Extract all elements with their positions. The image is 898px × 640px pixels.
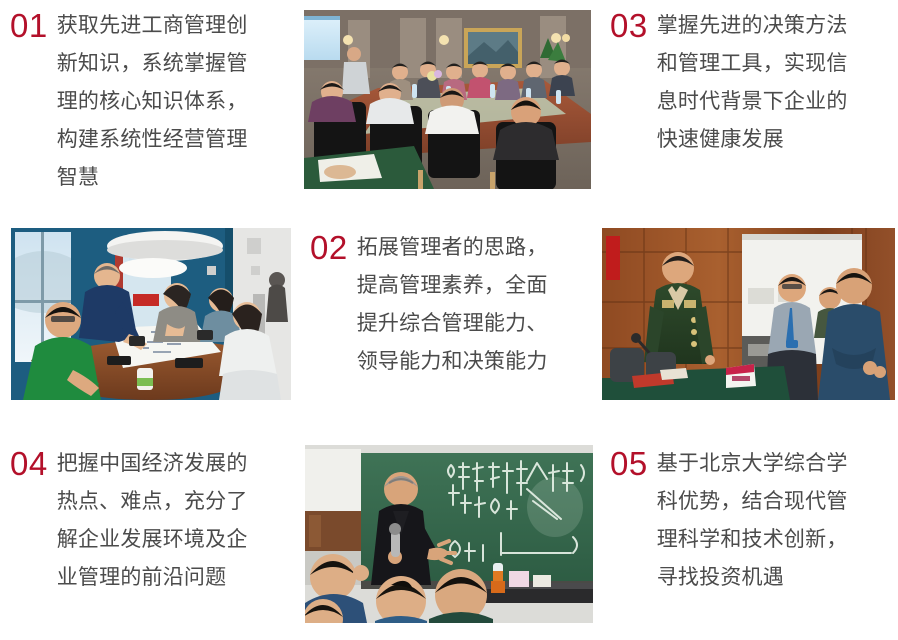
photo-officer-talk — [602, 228, 895, 400]
feature-text-02: 拓展管理者的思路， 提高管理素养，全面 提升综合管理能力、 领导能力和决策能力 — [357, 228, 596, 380]
feature-item-04: 04 把握中国经济发展的 热点、难点，充分了 解企业发展环境及企 业管理的前沿问… — [10, 444, 296, 596]
feature-item-03: 03 掌握先进的决策方法 和管理工具，实现信 息时代背景下企业的 快速健康发展 — [610, 6, 896, 158]
feature-item-05: 05 基于北京大学综合学 科优势，结合现代管 理科学和技术创新， 寻找投资机遇 — [610, 444, 896, 596]
group-table-illustration — [11, 228, 291, 400]
feature-text-04: 把握中国经济发展的 热点、难点，充分了 解企业发展环境及企 业管理的前沿问题 — [57, 444, 296, 596]
photo-group-table — [11, 228, 291, 400]
features-grid-page: 01 获取先进工商管理创 新知识，系统掌握管 理的核心知识体系， 构建系统性经营… — [0, 0, 898, 640]
photo-lecture-board — [305, 445, 593, 623]
feature-item-02: 02 拓展管理者的思路， 提高管理素养，全面 提升综合管理能力、 领导能力和决策… — [310, 228, 596, 380]
feature-number-01: 01 — [10, 6, 48, 46]
officer-talk-illustration — [602, 228, 895, 400]
feature-text-05: 基于北京大学综合学 科优势，结合现代管 理科学和技术创新， 寻找投资机遇 — [657, 444, 896, 596]
feature-number-02: 02 — [310, 228, 348, 268]
lecture-board-illustration — [305, 445, 593, 623]
feature-item-01: 01 获取先进工商管理创 新知识，系统掌握管 理的核心知识体系， 构建系统性经营… — [10, 6, 296, 196]
feature-text-01: 获取先进工商管理创 新知识，系统掌握管 理的核心知识体系， 构建系统性经营管理 … — [57, 6, 296, 196]
feature-text-03: 掌握先进的决策方法 和管理工具，实现信 息时代背景下企业的 快速健康发展 — [657, 6, 896, 158]
feature-number-04: 04 — [10, 444, 48, 484]
meeting-room-illustration — [304, 10, 591, 189]
feature-number-05: 05 — [610, 444, 648, 484]
photo-meeting-room — [304, 10, 591, 189]
feature-number-03: 03 — [610, 6, 648, 46]
